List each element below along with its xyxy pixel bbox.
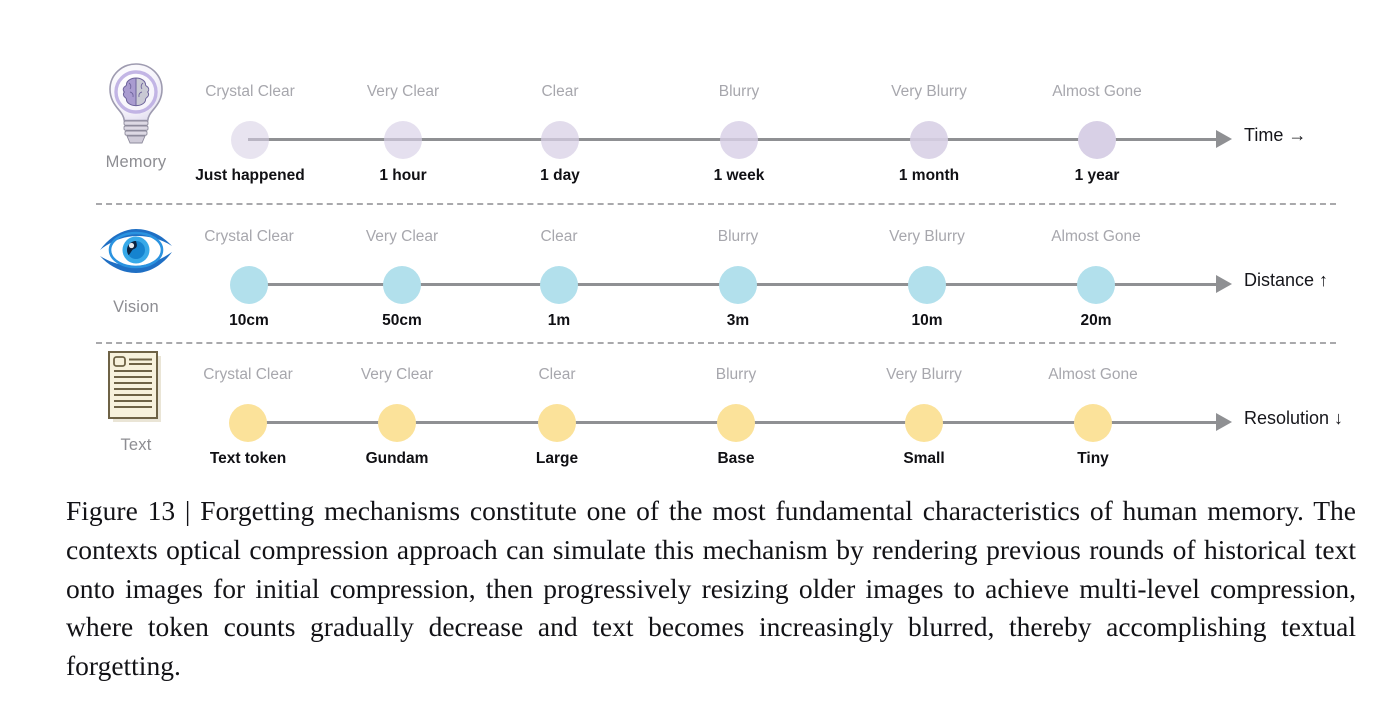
timeline-stop: Almost Gone20m	[996, 190, 1196, 335]
stop-value-label: 1 week	[639, 167, 839, 185]
stop-quality-label: Clear	[459, 228, 659, 246]
stop-dot	[230, 266, 268, 304]
timeline-stop: BlurryBase	[636, 328, 836, 473]
axis-label-memory: Time →	[1244, 125, 1306, 146]
stop-dot	[384, 121, 422, 159]
stop-value-label: Base	[636, 450, 836, 468]
stop-value-label: Tiny	[993, 450, 1193, 468]
timeline-stop: Clear1 day	[460, 45, 660, 190]
forgetting-mechanism-diagram: Memory Time → Crystal ClearJust happened…	[0, 0, 1400, 480]
stop-value-label: Large	[457, 450, 657, 468]
axis-arrowhead-memory	[1216, 130, 1232, 148]
stop-dot	[720, 121, 758, 159]
stop-value-label: 1 day	[460, 167, 660, 185]
stop-quality-label: Clear	[457, 366, 657, 384]
axis-arrowhead-text	[1216, 413, 1232, 431]
stop-dot	[540, 266, 578, 304]
stop-dot	[231, 121, 269, 159]
row-memory: Memory Time → Crystal ClearJust happened…	[0, 45, 1400, 190]
stop-dot	[1078, 121, 1116, 159]
stop-value-label: 1 year	[997, 167, 1197, 185]
stop-dot	[719, 266, 757, 304]
stop-dot	[541, 121, 579, 159]
stop-dot	[905, 404, 943, 442]
row-vision: Vision Distance ↑ Crystal Clear10cmVery …	[0, 190, 1400, 335]
stop-dot	[538, 404, 576, 442]
figure-caption-body: Forgetting mechanisms constitute one of …	[66, 495, 1356, 681]
stop-quality-label: Almost Gone	[993, 366, 1193, 384]
stop-dot	[910, 121, 948, 159]
stop-quality-label: Clear	[460, 83, 660, 101]
stop-dot	[908, 266, 946, 304]
stop-dot	[1077, 266, 1115, 304]
stop-quality-label: Almost Gone	[997, 83, 1197, 101]
stop-dot	[717, 404, 755, 442]
timeline-vision: Distance ↑ Crystal Clear10cmVery Clear50…	[0, 190, 1400, 335]
timeline-stop: Clear1m	[459, 190, 659, 335]
figure-caption: Figure 13 | Forgetting mechanisms consti…	[66, 492, 1356, 686]
stop-quality-label: Blurry	[639, 83, 839, 101]
row-text: Text Resolution ↓ Crystal ClearText toke…	[0, 328, 1400, 473]
axis-label-vision: Distance ↑	[1244, 270, 1328, 291]
timeline-stop: Blurry3m	[638, 190, 838, 335]
timeline-text: Resolution ↓ Crystal ClearText tokenVery…	[0, 328, 1400, 473]
stop-dot	[229, 404, 267, 442]
stop-dot	[1074, 404, 1112, 442]
timeline-stop: Blurry1 week	[639, 45, 839, 190]
figure-13: Memory Time → Crystal ClearJust happened…	[0, 0, 1400, 722]
figure-number: Figure 13 |	[66, 495, 190, 526]
stop-dot	[383, 266, 421, 304]
stop-quality-label: Almost Gone	[996, 228, 1196, 246]
stop-quality-label: Blurry	[636, 366, 836, 384]
stop-quality-label: Blurry	[638, 228, 838, 246]
stop-dot	[378, 404, 416, 442]
timeline-stop: Almost Gone1 year	[997, 45, 1197, 190]
axis-label-text: Resolution ↓	[1244, 408, 1343, 429]
axis-arrowhead-vision	[1216, 275, 1232, 293]
timeline-stop: Almost GoneTiny	[993, 328, 1193, 473]
timeline-stop: ClearLarge	[457, 328, 657, 473]
timeline-memory: Time → Crystal ClearJust happenedVery Cl…	[0, 45, 1400, 190]
